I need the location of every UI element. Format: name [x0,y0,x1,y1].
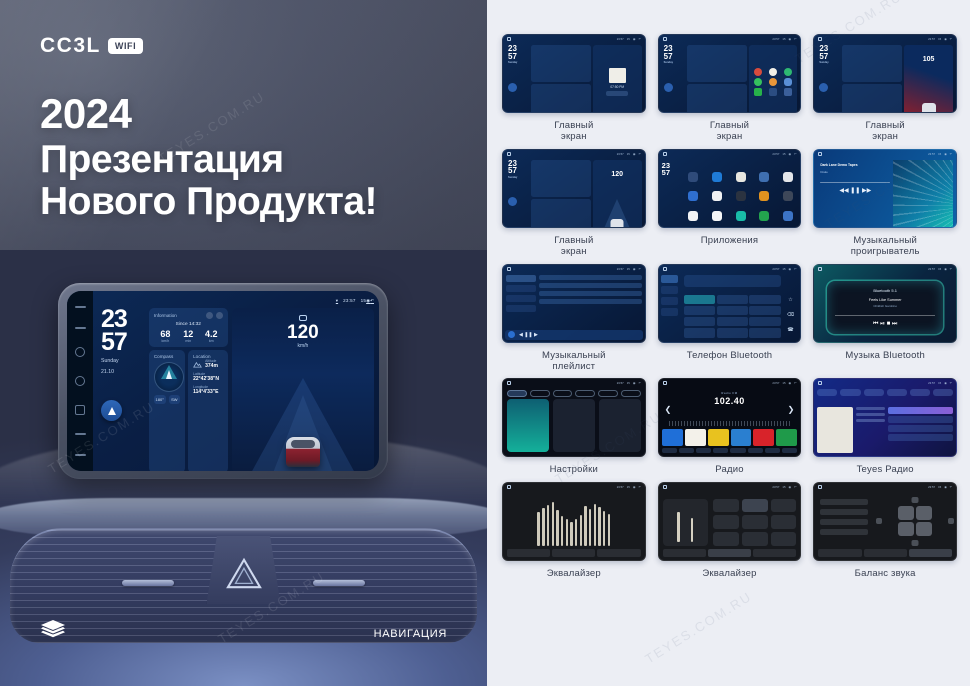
mixer-tabs[interactable] [663,549,797,557]
thumb-time: 23:57 [928,485,935,489]
thumb-volume: 15 [627,267,630,271]
gallery-item[interactable]: 23:5715◉↶ Bluetooth 5.1 Feels Like Summe… [813,264,957,373]
thumb-time: 23:57 [617,485,624,489]
caption: Радио [715,464,743,475]
status-bar: ▾ 23:57 15 ◉ ↶ [98,295,374,306]
mini-speed: 105 [904,56,953,63]
balance-panel [814,495,956,548]
gallery-item[interactable]: 23:5715◉↶ Баланс звука [813,482,957,579]
gallery-item[interactable]: 23:5715◉↶ ☆ [658,264,802,373]
thumb-status-bar: 23:5715◉↶ [503,483,645,491]
compass-direction: SW [169,395,181,404]
mid-column: Information Since 14:32 68 [149,308,228,471]
thumb-volume: 15 [938,381,941,385]
thumbnail-bt-music[interactable]: 23:5715◉↶ Bluetooth 5.1 Feels Like Summe… [813,264,957,343]
dial-pad[interactable] [684,295,780,338]
mini-clock: 2357Sunday [506,45,529,113]
thumb-time: 23:57 [772,381,779,385]
mini-app-dock[interactable] [749,45,798,113]
thumb-volume: 15 [782,267,785,271]
drive-assist-pane[interactable]: 120 km/h [232,308,374,471]
thumb-volume: 15 [627,152,630,156]
more-tile[interactable] [599,399,641,452]
mini-cards [842,45,902,113]
equalizer-sliders[interactable] [507,501,641,546]
balance-pad[interactable] [874,495,956,548]
caption: Главныйэкран [710,120,749,143]
gallery-item[interactable]: 23:5715◉↶ Teyes Радио [813,378,957,475]
volume-up-icon[interactable] [75,454,86,456]
thumb-time: 23:57 [928,152,935,156]
thumbnail-music-player[interactable]: 23:5715◉↶ Dark Lane Demo Tapes Drake ◀◀ … [813,149,957,228]
phone-sidebar[interactable] [661,275,678,316]
thumbnail-equalizer[interactable]: 23:5715◉↶ [502,482,646,561]
seat-grid[interactable] [898,506,932,536]
head-unit-device: ▾ 23:57 15 ◉ ↶ 23 57 Sunday 21.10 [58,283,388,479]
information-title: Information [154,313,177,318]
mini-clock: 2357Sunday [662,45,685,113]
stat-value: 12 [177,329,200,339]
left-pane: 23 57 Sunday 21.10 Information [98,308,228,471]
mini-home-layout: 2357Sunday 07:50 PM [503,43,645,113]
latitude-value: 22°42'38"N [193,376,223,382]
screen-content: ▾ 23:57 15 ◉ ↶ 23 57 Sunday 21.10 [93,291,379,471]
stat-item: 68 km/h [154,329,177,343]
longitude-row: Longitude 114°4'33"E [193,385,223,395]
thumb-volume: 15 [627,37,630,41]
mini-cards [531,160,591,228]
thumb-status-bar: 23:5715◉↶ [814,265,956,273]
thumb-status-bar: 23:5715◉↶ [814,150,956,158]
mini-drive-widget[interactable]: 105 [904,45,953,113]
bt-track: Feels Like Summer [827,298,943,302]
mini-music-time: 07:50 PM [610,85,624,89]
thumb-volume: 15 [782,37,785,41]
caption: Эквалайзер [702,568,756,579]
track-list[interactable]: Dark Lane Demo Tapes Drake ◀◀ ❚❚ ▶▶ [817,160,893,228]
title-year: 2024 [40,92,377,137]
altitude-value: 374m [205,363,218,369]
thumb-time: 23:57 [772,152,779,156]
widget-row: Compass 180° SW [149,350,228,471]
navigation-button[interactable] [101,400,122,421]
thumb-volume: 15 [627,381,630,385]
clock-widget[interactable]: 23 57 Sunday 21.10 [98,308,145,471]
thumbnail-teyes-radio[interactable]: 23:5715◉↶ [813,378,957,457]
thumb-status-bar: 23:5715◉↶ [659,265,801,273]
album-art [817,407,852,453]
thumb-status-bar: 23:5715◉↶ [659,379,801,387]
thumb-time: 23:57 [617,152,624,156]
caption: Музыкальныйплейлист [542,350,606,373]
thumb-time: 23:57 [928,267,935,271]
track-title: Dark Lane Demo Tapes [820,163,890,167]
home-icon[interactable] [75,376,85,386]
caption: Настройки [550,464,598,475]
hud-icon [299,315,307,321]
balance-presets[interactable] [814,495,874,548]
caption: Главныйэкран [554,120,593,143]
thumb-volume: 15 [938,485,941,489]
layers-glyph [40,619,66,639]
thumb-volume: 15 [627,485,630,489]
speed-value: 120 [232,323,374,342]
thumb-status-bar: 23:5715◉↶ [659,35,801,43]
mixer-panel [663,499,797,546]
teyes-nav[interactable] [817,389,953,396]
bt-player-card[interactable]: Bluetooth 5.1 Feels Like Summer Childish… [827,281,943,334]
mini-phone-layout: ☆ ⌫ ☎ [659,273,801,342]
compass-dial [154,362,184,392]
gallery-item[interactable]: 23:5715◉↶ 2357Sunday 07:50 PM Главныйэ [502,34,646,143]
thumb-status-bar: 23:5715◉↶ [814,379,956,387]
favorite-icon[interactable]: ☆ [788,297,792,303]
radio-frequency: Radio FM 102.40 [659,391,801,406]
mini-clock: 2357Sunday [506,160,529,228]
thumb-time: 23:57 [928,381,935,385]
screen-sidebar[interactable] [67,291,93,471]
phone-actions[interactable]: ☆ ⌫ ☎ [783,293,799,338]
stat-unit: min [177,339,200,343]
mixer-sliders[interactable] [663,499,708,546]
mini-speed: 120 [593,171,642,178]
back-icon[interactable] [75,405,85,415]
gallery-item[interactable]: 23:5715◉↶ 2357Sunday [658,34,802,143]
mini-drive-widget[interactable]: 120 [593,160,642,228]
thumb-volume: 15 [938,152,941,156]
stat-unit: km [200,339,223,343]
thumbnail-home-music[interactable]: 23:5715◉↶ 2357Sunday 07:50 PM [502,34,646,113]
thumbnail-home-drive-red[interactable]: 23:5715◉↶ 2357Sunday 105 [813,34,957,113]
clock-weekday: Sunday [101,358,145,365]
power-icon[interactable] [75,347,85,357]
latitude-row: Latitude 22°42'38"N [193,372,223,382]
thumb-volume: 15 [938,37,941,41]
trip-stats: 68 km/h 12 min 4.2 [154,329,223,343]
caption: Телефон Bluetooth [687,350,773,361]
backspace-icon[interactable]: ⌫ [787,312,794,318]
radio-tuning[interactable]: ❮ ❯ [665,405,795,414]
thumb-time: 23:57 [617,37,624,41]
track-meta [856,407,886,453]
mountain-icon [193,360,202,369]
bt-artist: Childish Gambino [827,304,943,308]
next-track-icon[interactable] [75,327,86,329]
information-header: Information [154,312,223,319]
thumbnail-mixer[interactable]: 23:5715◉↶ [658,482,802,561]
thumbnail-apps[interactable]: 23:5715◉↶ 2357 [658,149,802,228]
thumb-time: 23:57 [617,381,624,385]
thumb-status-bar: 23:5715◉↶ [503,150,645,158]
visualizer [893,160,953,228]
equalizer-tabs[interactable] [507,549,641,557]
settings-tabs[interactable] [507,390,641,397]
radio-scale[interactable] [669,421,791,426]
balance-right-icon[interactable] [948,518,954,524]
thumb-time: 23:57 [772,37,779,41]
presentation-slide: ▾ 23:57 15 ◉ ↶ 23 57 Sunday 21.10 [0,0,970,686]
thumb-status-bar: 23:5715◉↶ [814,483,956,491]
call-icon[interactable]: ☎ [787,327,793,333]
since-label: Since 14:32 [154,322,223,327]
mini-nav-button[interactable] [819,83,828,92]
gallery-item[interactable]: 23:5715◉↶ ◀ ❚❚ ▶ [502,264,646,373]
phone-number-field[interactable] [684,275,780,287]
radio-dock[interactable] [662,446,798,454]
thumb-status-bar: 23:5715◉↶ [503,265,645,273]
thumb-volume: 15 [938,267,941,271]
caption: Teyes Радио [857,464,914,475]
brand-name: CC3L [40,34,101,58]
mini-nav-button[interactable] [664,83,673,92]
thumb-status-bar: 23:5715◉↶ [503,35,645,43]
hazard-button[interactable] [207,536,281,604]
caption: Главныйэкран [866,120,905,143]
thumb-status-bar: 23:5715◉↶ [659,483,801,491]
mini-home-layout: 2357Sunday 105 [814,43,956,113]
thumb-status-bar: 23:5715◉↶ [659,150,801,158]
balance-down-icon[interactable] [911,540,918,546]
compass-needle [166,370,172,379]
gallery-item[interactable]: 23:5715◉↶ Настройки [502,378,646,475]
thumb-status-bar: 23:5715◉↶ [503,379,645,387]
longitude-value: 114°4'33"E [193,389,223,395]
watermark: TEYES.COM.RU [642,589,754,667]
thumbnail-home-drive[interactable]: 23:5715◉↶ 2357Sunday 120 [502,149,646,228]
radio-presets[interactable] [662,429,798,446]
mini-music-widget[interactable]: 07:50 PM [593,45,642,113]
thumb-volume: 15 [782,381,785,385]
caption: Баланс звука [855,568,916,579]
teyes-content [817,407,953,453]
bt-badge: Bluetooth 5.1 [827,281,943,293]
caption: Главныйэкран [554,235,593,258]
thumbnail-music-playlist[interactable]: 23:5715◉↶ ◀ ❚❚ ▶ [502,264,646,343]
title-line-2: Нового Продукта! [40,180,377,223]
vent-slot-left [122,580,174,586]
balance-up-icon[interactable] [911,497,918,503]
information-card[interactable]: Information Since 14:32 68 [149,308,228,347]
balance-tabs[interactable] [818,549,952,557]
thumbnail-bt-phone[interactable]: 23:5715◉↶ ☆ [658,264,802,343]
back-icon[interactable]: ↶ [370,298,374,304]
thumb-volume: 15 [782,485,785,489]
car-model [286,437,320,467]
layers-icon [40,619,66,644]
thumb-time: 23:57 [617,267,624,271]
hotspot-tile[interactable] [553,399,595,452]
thumbnail-radio[interactable]: 23:5715◉↶ Radio FM 102.40 ❮ ❯ [658,378,802,457]
compass-title: Compass [154,354,180,359]
station-list[interactable] [888,407,953,453]
radio-band: Radio FM [659,391,801,395]
page-title: 2024 Презентация Нового Продукта! [40,92,377,222]
vent-slot-right [313,580,365,586]
mini-nav-button[interactable] [508,83,517,92]
balance-left-icon[interactable] [876,518,882,524]
volume-down-icon[interactable] [75,433,86,435]
gallery-item[interactable]: 23:5715◉↶ 2357Sunday 105 Главныйэкран [813,34,957,143]
screenshot-gallery: 23:5715◉↶ 2357Sunday 07:50 PM Главныйэ [487,0,970,686]
thumb-time: 23:57 [772,485,779,489]
compass-degrees: 180° [154,395,166,404]
product-logo: CC3L WIFI [40,34,143,58]
thumb-status-bar: 23:5715◉↶ [814,35,956,43]
caption: Музыка Bluetooth [845,350,925,361]
home-panes: 23 57 Sunday 21.10 Information [98,308,374,471]
prev-track-icon[interactable] [75,306,86,308]
caption: Эквалайзер [547,568,601,579]
clock-minutes: 57 [101,331,145,354]
bt-controls[interactable]: ⏮ ⏯ ■ ⏭ [827,321,943,328]
title-line-1: Презентация [40,138,284,181]
mini-player-layout: Dark Lane Demo Tapes Drake ◀◀ ❚❚ ▶▶ [814,158,956,228]
app-grid[interactable] [683,168,799,225]
gallery-item[interactable]: 23:5715◉↶ Эквалайзер [658,482,802,579]
stat-unit: km/h [154,339,177,343]
mini-cards [687,45,747,113]
compass-readout: 180° SW [154,395,180,404]
gallery-item[interactable]: 23:5715◉↶ Эквалайзер [502,482,646,579]
tune-next-icon[interactable]: ❯ [788,405,795,414]
mini-player-bar[interactable]: ◀ ❚❚ ▶ [505,330,643,340]
mini-apps-layout: 2357 [659,158,801,227]
compass-card[interactable]: Compass 180° SW [149,350,185,471]
wifi-badge: WIFI [108,38,143,54]
wifi-icon: ▾ [336,298,338,304]
stat-value: 68 [154,329,177,339]
location-card[interactable]: Location Altitude 374m [188,350,228,471]
refresh-icon[interactable] [206,312,213,319]
mini-cards [531,45,591,113]
mini-nav-button[interactable] [508,197,517,206]
stat-item: 4.2 km [200,329,223,343]
hero-panel: ▾ 23:57 15 ◉ ↶ 23 57 Sunday 21.10 [0,0,487,686]
gallery-item[interactable]: 23:5715◉↶ Dark Lane Demo Tapes Drake ◀◀ … [813,149,957,258]
status-time: 23:57 [343,298,356,303]
speed-readout: 120 km/h [232,308,374,349]
head-unit-screen[interactable]: ▾ 23:57 15 ◉ ↶ 23 57 Sunday 21.10 [67,291,379,471]
thumb-time: 23:57 [772,267,779,271]
caption: Музыкальныйпроигрыватель [851,235,920,258]
altitude-row: Altitude 374m [193,359,223,369]
caption: Приложения [701,235,759,246]
gallery-item[interactable]: 23:5715◉↶ 2357 [658,149,802,258]
thumbnail-balance[interactable]: 23:5715◉↶ [813,482,957,561]
nav-label: НАВИГАЦИЯ [374,628,447,640]
gallery-grid: 23:5715◉↶ 2357Sunday 07:50 PM Главныйэ [502,34,957,579]
gallery-item[interactable]: 23:5715◉↶ 2357Sunday 120 Главныйэкран [502,149,646,258]
thumbnail-settings[interactable]: 23:5715◉↶ [502,378,646,457]
clock-date: 21.10 [101,369,145,376]
thumb-time: 23:57 [928,37,935,41]
wifi-tile[interactable] [507,399,549,452]
tune-prev-icon[interactable]: ❮ [665,405,672,414]
stat-value: 4.2 [200,329,223,339]
effect-pads[interactable] [713,499,796,546]
hazard-triangle-icon [225,556,263,590]
mini-home-layout: 2357Sunday 120 [503,158,645,228]
thumb-volume: 15 [782,152,785,156]
gallery-item[interactable]: 23:5715◉↶ Radio FM 102.40 ❮ ❯ [658,378,802,475]
mini-clock: 2357Sunday [817,45,840,113]
settings-tiles[interactable] [507,399,641,452]
expand-icon[interactable] [216,312,223,319]
thumbnail-home-apps[interactable]: 23:5715◉↶ 2357Sunday [658,34,802,113]
stat-item: 12 min [177,329,200,343]
mini-home-layout: 2357Sunday [659,43,801,113]
track-artist: Drake [820,170,890,174]
speed-unit: km/h [232,343,374,349]
